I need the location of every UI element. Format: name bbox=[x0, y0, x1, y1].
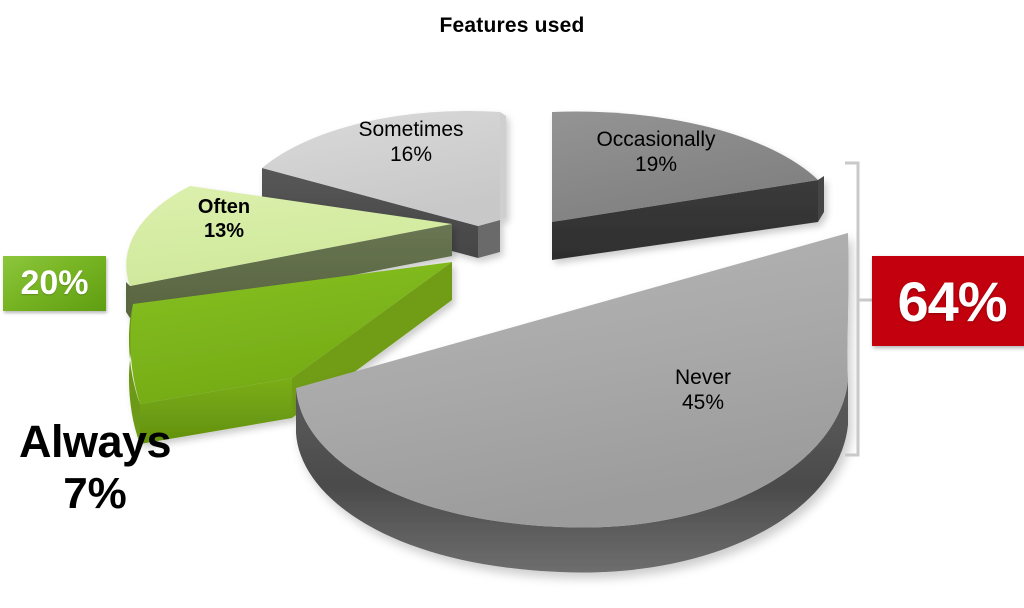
badge-red-percentage: 64% bbox=[872, 256, 1024, 346]
callout-always: Always 7% bbox=[2, 418, 188, 517]
grouping-bracket-right bbox=[845, 163, 872, 455]
badge-green-percentage: 20% bbox=[3, 256, 106, 311]
pie-slice-occasionally[interactable] bbox=[552, 111, 824, 260]
callout-always-value: 7% bbox=[2, 471, 188, 517]
callout-always-name: Always bbox=[2, 418, 188, 465]
chart-canvas: Features used bbox=[0, 0, 1024, 608]
